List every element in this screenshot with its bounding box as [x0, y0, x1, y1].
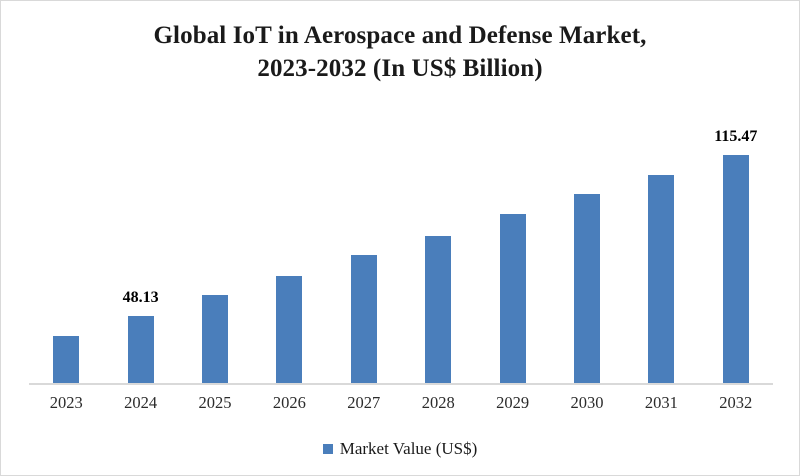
x-axis-line [29, 383, 773, 385]
x-tick-2026: 2026 [252, 393, 326, 413]
bar-2031[interactable] [648, 175, 674, 383]
chart-title-line-2: 2023-2032 (In US$ Billion) [1, 52, 799, 85]
bar-2027[interactable] [351, 255, 377, 383]
bar-slot [178, 109, 252, 383]
bar-slot [29, 109, 103, 383]
bar-slot [252, 109, 326, 383]
bar-slot: 115.47 [699, 109, 773, 383]
chart-title: Global IoT in Aerospace and Defense Mark… [1, 19, 799, 85]
bar-slot [550, 109, 624, 383]
chart-container: Global IoT in Aerospace and Defense Mark… [0, 0, 800, 476]
bar-2032[interactable] [723, 155, 749, 383]
x-tick-2028: 2028 [401, 393, 475, 413]
x-tick-2023: 2023 [29, 393, 103, 413]
bar-2029[interactable] [500, 214, 526, 383]
bar-2025[interactable] [202, 295, 228, 383]
x-axis-tick-labels: 2023202420252026202720282029203020312032 [29, 393, 773, 419]
bar-slot: 48.13 [103, 109, 177, 383]
bar-2024[interactable] [128, 316, 154, 383]
bar-value-label-2024: 48.13 [123, 289, 159, 307]
x-tick-2024: 2024 [103, 393, 177, 413]
x-tick-2027: 2027 [327, 393, 401, 413]
chart-legend: Market Value (US$) [1, 439, 799, 459]
legend-swatch-icon [323, 444, 333, 454]
x-tick-2032: 2032 [699, 393, 773, 413]
bar-2026[interactable] [276, 276, 302, 383]
plot-area: 48.13115.47 [29, 111, 773, 385]
bar-2023[interactable] [53, 336, 79, 383]
bar-slot [624, 109, 698, 383]
chart-title-line-1: Global IoT in Aerospace and Defense Mark… [1, 19, 799, 52]
bar-2030[interactable] [574, 194, 600, 383]
x-tick-2031: 2031 [624, 393, 698, 413]
x-tick-2030: 2030 [550, 393, 624, 413]
legend-label: Market Value (US$) [340, 439, 478, 459]
bar-slot [327, 109, 401, 383]
bar-value-label-2032: 115.47 [714, 128, 757, 146]
x-tick-2025: 2025 [178, 393, 252, 413]
bar-2028[interactable] [425, 236, 451, 383]
bar-slot [401, 109, 475, 383]
bar-slot [475, 109, 549, 383]
x-tick-2029: 2029 [475, 393, 549, 413]
